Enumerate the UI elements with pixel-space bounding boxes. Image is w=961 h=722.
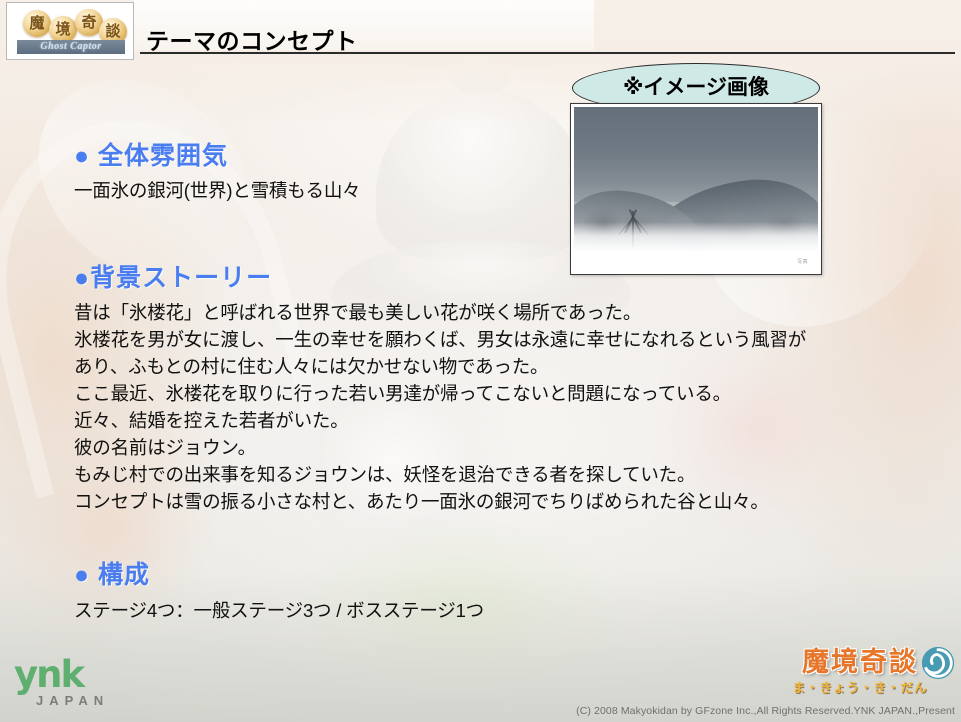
brand-logo-char-2: 境 [49,16,77,43]
brand-logo-char-1: 魔 [23,10,51,37]
section-structure-line-1: ステージ4つ：一般ステージ3つ / ボスステージ1つ [74,597,484,624]
brand-logo-coins: 魔 境 奇 談 [7,7,134,41]
page-title: テーマのコンセプト [146,22,358,56]
title-divider [140,52,955,54]
brand-logo-subtitle: Ghost Captor [17,40,125,54]
section-heading-atmosphere: ● 全体雰囲気 [74,136,360,172]
section-story-line-1: 昔は「氷楼花」と呼ばれる世界で最も美しい花が咲く場所であった。 [74,299,806,326]
section-story-line-5: 近々、結婚を控えた若者がいた。 [74,407,806,434]
publisher-logo: ynk JAPAN [14,658,134,708]
publisher-logo-region: JAPAN [36,693,134,708]
section-structure: ● 構成 ステージ4つ：一般ステージ3つ / ボスステージ1つ [74,555,484,624]
section-story-line-4: ここ最近、氷楼花を取りに行った若い男達が帰ってこないと問題になっている。 [74,380,806,407]
section-story-line-7: もみじ村での出来事を知るジョウンは、妖怪を退治できる者を探していた。 [74,461,806,488]
slide-root: 魔 境 奇 談 Ghost Captor テーマのコンセプト ● 全体雰囲気 一… [0,0,961,722]
section-atmosphere-line-1: 一面氷の銀河(世界)と雪積もる山々 [74,177,360,204]
section-heading-structure: ● 構成 [74,555,484,591]
game-title-logo: 魔境奇談 ま・きょう・き・だん [767,640,953,696]
swirl-icon [919,644,957,682]
publisher-logo-mark: ynk [14,658,134,692]
reference-photo-frame: 写真 [570,103,822,275]
photo-snow-field [574,222,818,271]
section-story-line-2: 氷楼花を男が女に渡し、一生の幸せを願わくば、男女は永遠に幸せになれるという風習が [74,326,806,353]
reference-photo: 写真 [574,107,818,271]
section-story-line-6: 彼の名前はジョウン。 [74,434,806,461]
section-story-body: 昔は「氷楼花」と呼ばれる世界で最も美しい花が咲く場所であった。 氷楼花を男が女に… [74,299,806,515]
section-story-line-3: あり、ふもとの村に住む人々には欠かせない物であった。 [74,353,806,380]
section-story: ●背景ストーリー 昔は「氷楼花」と呼ばれる世界で最も美しい花が咲く場所であった。… [74,258,806,515]
brand-logo: 魔 境 奇 談 Ghost Captor [6,2,134,60]
photo-credit-mark: 写真 [797,258,808,265]
section-atmosphere: ● 全体雰囲気 一面氷の銀河(世界)と雪積もる山々 [74,136,360,204]
section-story-line-8: コンセプトは雪の振る小さな村と、あたり一面氷の銀河でちりばめられた谷と山々。 [74,488,806,515]
copyright-text: (C) 2008 Makyokidan by GFzone Inc.,All R… [576,705,955,717]
